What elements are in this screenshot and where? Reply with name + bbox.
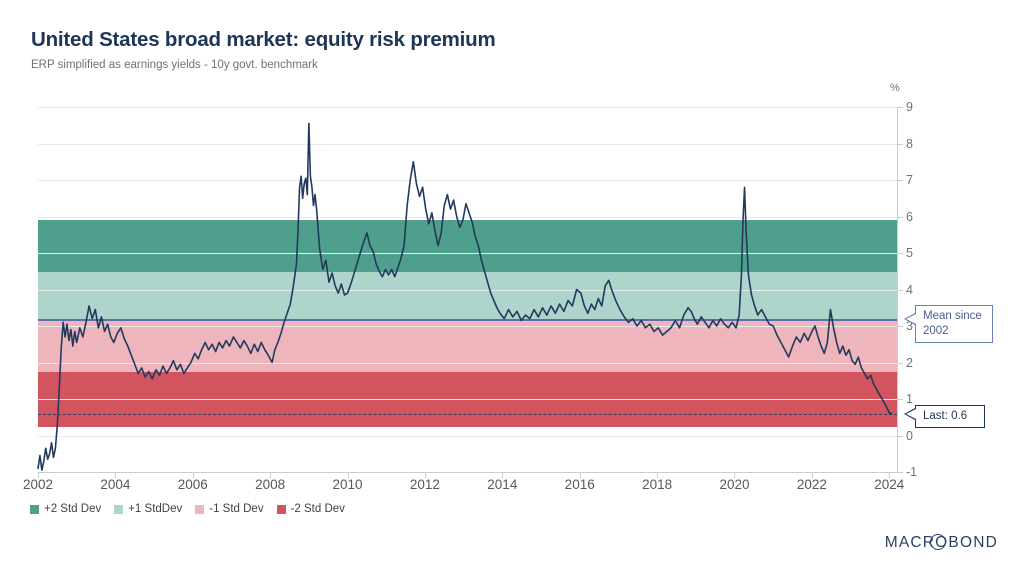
y-tick-mark-2 (897, 363, 903, 364)
legend-item-0[interactable]: +2 Std Dev (30, 503, 101, 515)
x-tick-label-2024: 2024 (874, 477, 904, 492)
x-tick-label-2010: 2010 (333, 477, 363, 492)
y-tick-mark-8 (897, 144, 903, 145)
x-tick-label-2004: 2004 (100, 477, 130, 492)
x-tick-mark-2014 (502, 472, 503, 478)
y-tick-mark-1 (897, 399, 903, 400)
x-tick-mark-2010 (348, 472, 349, 478)
y-tick-label-8: 8 (906, 137, 913, 151)
chart-legend: +2 Std Dev+1 StdDev-1 Std Dev-2 Std Dev (30, 503, 345, 515)
x-tick-mark-2002 (38, 472, 39, 478)
x-tick-mark-2004 (115, 472, 116, 478)
y-axis-unit-label: % (890, 82, 900, 94)
x-tick-label-2008: 2008 (255, 477, 285, 492)
x-tick-label-2002: 2002 (23, 477, 53, 492)
y-tick-label-0: 0 (906, 429, 913, 443)
callout-pointer-fill (906, 314, 916, 324)
x-tick-mark-2024 (889, 472, 890, 478)
x-tick-label-2014: 2014 (487, 477, 517, 492)
y-tick-mark-7 (897, 180, 903, 181)
x-tick-label-2012: 2012 (410, 477, 440, 492)
x-tick-label-2022: 2022 (797, 477, 827, 492)
x-tick-mark-2016 (580, 472, 581, 478)
x-tick-mark-2018 (657, 472, 658, 478)
y-tick-label--1: -1 (906, 465, 917, 479)
legend-label: -2 Std Dev (291, 503, 345, 515)
legend-label: +1 StdDev (128, 503, 182, 515)
y-tick-label-7: 7 (906, 173, 913, 187)
x-tick-mark-2012 (425, 472, 426, 478)
legend-swatch-icon (30, 505, 39, 514)
y-tick-mark-5 (897, 253, 903, 254)
chart-container: % Mean since 2002 Last: 0.6 -10123456789… (0, 0, 1024, 576)
y-tick-label-9: 9 (906, 100, 913, 114)
legend-swatch-icon (195, 505, 204, 514)
x-tick-label-2006: 2006 (178, 477, 208, 492)
y-tick-mark-3 (897, 326, 903, 327)
y-tick-mark--1 (897, 472, 903, 473)
series-equity-risk-premium (38, 107, 897, 472)
y-tick-label-6: 6 (906, 210, 913, 224)
y-tick-mark-6 (897, 217, 903, 218)
legend-label: +2 Std Dev (44, 503, 101, 515)
x-tick-mark-2008 (270, 472, 271, 478)
x-tick-mark-2020 (734, 472, 735, 478)
macrobond-logo: MACROBOND (885, 534, 998, 552)
legend-swatch-icon (277, 505, 286, 514)
x-tick-mark-2022 (812, 472, 813, 478)
logo-text: MACROBOND (885, 534, 998, 552)
y-tick-label-2: 2 (906, 356, 913, 370)
x-tick-mark-2006 (193, 472, 194, 478)
callout-pointer-fill (906, 409, 916, 419)
legend-item-1[interactable]: +1 StdDev (114, 503, 182, 515)
x-axis-line (38, 472, 898, 473)
x-tick-label-2018: 2018 (642, 477, 672, 492)
y-tick-mark-9 (897, 107, 903, 108)
y-tick-label-1: 1 (906, 392, 913, 406)
plot-area (38, 107, 897, 472)
y-tick-mark-0 (897, 436, 903, 437)
legend-item-2[interactable]: -1 Std Dev (195, 503, 263, 515)
y-tick-mark-4 (897, 290, 903, 291)
last-value-callout: Last: 0.6 (915, 405, 985, 428)
legend-label: -1 Std Dev (209, 503, 263, 515)
x-tick-label-2020: 2020 (719, 477, 749, 492)
x-tick-label-2016: 2016 (565, 477, 595, 492)
y-tick-label-5: 5 (906, 246, 913, 260)
mean-callout: Mean since 2002 (915, 305, 993, 343)
legend-item-3[interactable]: -2 Std Dev (277, 503, 345, 515)
legend-swatch-icon (114, 505, 123, 514)
y-tick-label-4: 4 (906, 283, 913, 297)
